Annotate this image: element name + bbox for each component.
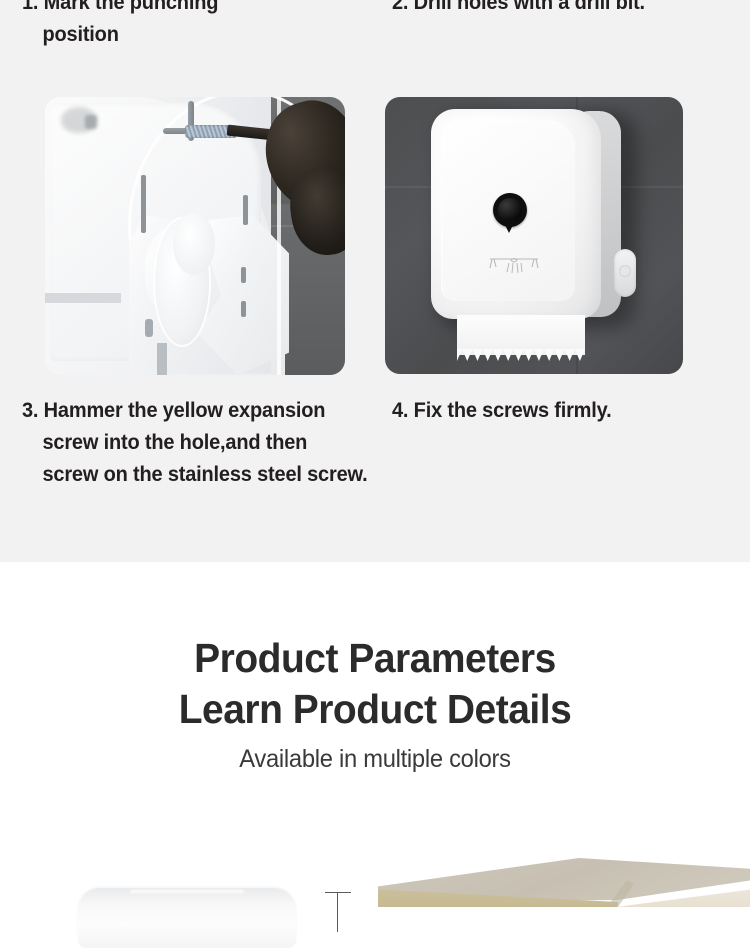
dispenser-mounted-on-wall-photo: [385, 97, 683, 374]
installation-steps-section: 1. Mark the punching position 2. Drill h…: [0, 0, 750, 562]
install-step-3-caption: 3. Hammer the yellow expansion screw int…: [22, 394, 377, 490]
product-parameters-heading: Product Parameters Learn Product Details: [19, 633, 732, 735]
screwdriver-fixing-bracket-photo: [45, 97, 345, 375]
keyhole-slot: [85, 115, 97, 129]
horizontal-rail: [45, 293, 121, 303]
brand-logo-icon: [487, 255, 541, 279]
product-parameters-section: Product Parameters Learn Product Details…: [0, 562, 750, 907]
carton-box-photo: [378, 858, 750, 907]
product-parameters-subheading: Available in multiple colors: [19, 745, 732, 774]
install-step-4-caption: 4. Fix the screws firmly.: [392, 394, 719, 426]
dimension-line-marker: [325, 892, 351, 932]
install-step-1-caption: 1. Mark the punching position: [22, 0, 349, 50]
install-step-2-caption: 2. Drill holes with a drill bit.: [392, 0, 729, 18]
dispenser-front-cover: [431, 109, 601, 319]
product-detail-page: 1. Mark the punching position 2. Drill h…: [0, 0, 750, 907]
bracket-pin: [145, 319, 153, 337]
bracket-slot-d: [241, 301, 246, 317]
bracket-slot-a: [141, 175, 146, 233]
bracket-stand: [157, 343, 167, 375]
bracket-slot-b: [243, 195, 248, 225]
bracket-slot-c: [241, 267, 246, 283]
roll-holder-inner-disc: [173, 213, 215, 275]
indicator-light: [614, 249, 636, 297]
dimension-stem: [337, 892, 338, 932]
white-dispenser-product-photo: [78, 888, 296, 948]
